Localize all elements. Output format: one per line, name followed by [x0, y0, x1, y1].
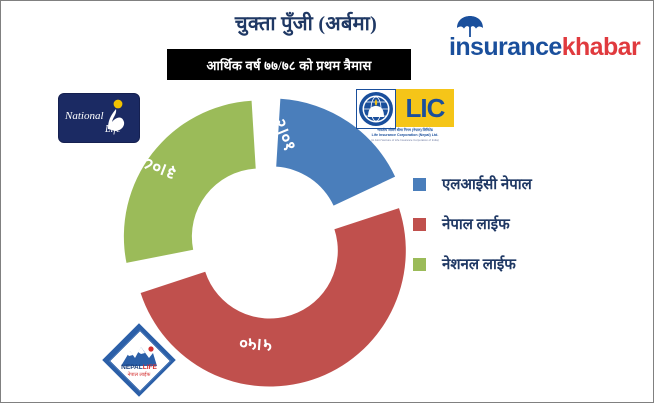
sun-figure-icon	[103, 98, 129, 132]
legend-swatch-national-life	[413, 258, 426, 271]
national-life-logo: National Life	[58, 93, 140, 143]
legend-item-nepal-life[interactable]: नेपाल लाईफ	[413, 204, 633, 244]
donut-slice[interactable]	[124, 101, 256, 263]
page-title: चुक्ता पुँजी (अर्बमा)	[151, 9, 461, 36]
lic-hands-lamp-icon	[356, 89, 396, 129]
nepal-life-word-life: LIFE	[143, 364, 157, 371]
chart-legend: एलआईसी नेपाल नेपाल लाईफ नेशनल लाईफ	[413, 164, 633, 284]
legend-item-national-life[interactable]: नेशनल लाईफ	[413, 244, 633, 284]
subtitle-banner: आर्थिक वर्ष ७७/७८ को प्रथम त्रैमास	[167, 49, 411, 80]
infographic-canvas: चुक्ता पुँजी (अर्बमा) आर्थिक वर्ष ७७/७८ …	[0, 0, 654, 403]
brand-logo: insurancekhabar	[441, 15, 631, 67]
legend-swatch-lic	[413, 178, 426, 191]
lic-logo: LIC भारतीय जीवन बीमा निगम (नेपाल) लिमिटे…	[356, 89, 454, 142]
legend-swatch-nepal-life	[413, 218, 426, 231]
subtitle-text: आर्थिक वर्ष ७७/७८ को प्रथम त्रैमास	[207, 56, 372, 74]
brand-wordmark: insurancekhabar	[449, 33, 640, 62]
nepal-life-devanagari: नेपाल लाईफ	[105, 372, 173, 378]
lic-wordmark: LIC	[406, 93, 445, 124]
legend-label-national-life: नेशनल लाईफ	[442, 254, 516, 274]
nepal-life-logo: NEPALLIFE नेपाल लाईफ	[105, 326, 173, 394]
legend-label-lic: एलआईसी नेपाल	[442, 174, 532, 194]
lic-subtitle-venture: (A Joint Venture of Life Insurance Corpo…	[356, 138, 454, 142]
nepal-life-word-nepal: NEPAL	[121, 364, 143, 371]
brand-name-secondary: khabar	[562, 33, 640, 61]
legend-label-nepal-life: नेपाल लाईफ	[442, 214, 510, 234]
lic-wordmark-box: LIC	[396, 89, 454, 127]
legend-item-lic[interactable]: एलआईसी नेपाल	[413, 164, 633, 204]
brand-name-primary: insurance	[449, 33, 562, 61]
national-life-word-national: National	[65, 110, 104, 122]
mountain-badge-icon	[121, 344, 157, 366]
nepal-life-wordmark: NEPALLIFE	[105, 364, 173, 371]
lic-subtitle-english: Life Insurance Corporation (Nepal) Ltd.	[356, 133, 454, 137]
